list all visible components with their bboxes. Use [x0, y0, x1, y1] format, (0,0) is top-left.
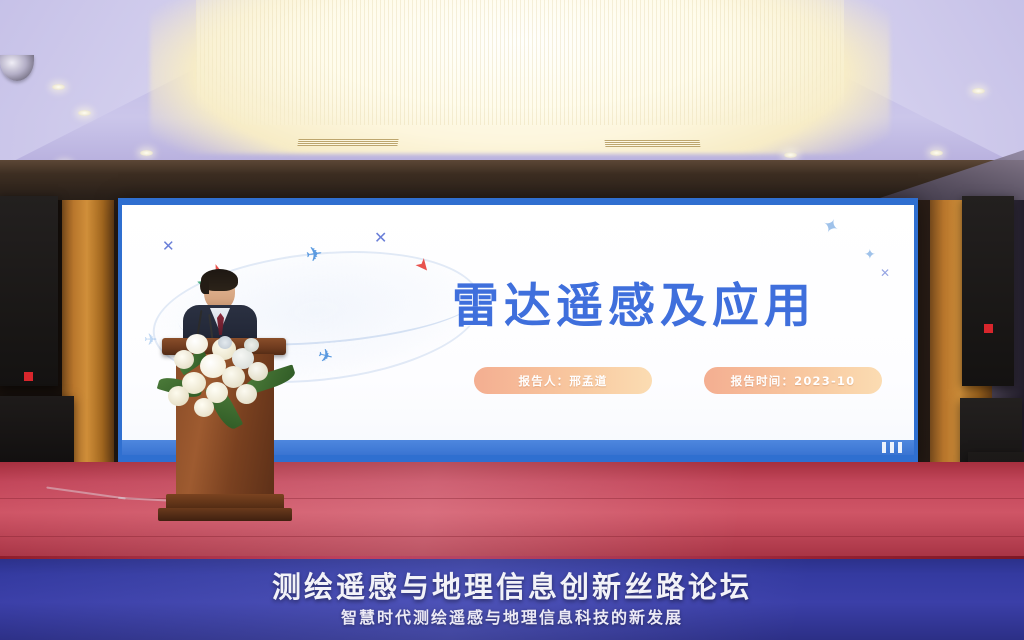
flower [236, 384, 257, 404]
downlight [930, 150, 943, 156]
airplane-blue-icon: ✈ [305, 244, 324, 266]
pa-speaker-right-top [962, 196, 1014, 386]
flower [174, 350, 194, 369]
presenter-badge: 报告人：邢孟道 [474, 367, 652, 394]
ceiling [0, 0, 1024, 168]
flower [244, 338, 259, 352]
date-badge: 报告时间：2023-10 [704, 367, 882, 394]
floral-arrangement [160, 332, 295, 424]
banner-subtitle: 智慧时代测绘遥感与地理信息科技的新发展 [0, 604, 1024, 628]
ceiling-vent-right [605, 140, 701, 147]
ceiling-vent-left [297, 139, 398, 146]
downlight [784, 152, 797, 158]
flower [248, 362, 268, 381]
drone-icon: ✕ [162, 239, 175, 254]
downlight [140, 150, 153, 156]
podium-plinth [158, 508, 292, 521]
aircraft-faint-icon: ✈ [144, 333, 157, 349]
slide-title: 雷达遥感及应用 [452, 267, 902, 336]
tick [882, 442, 886, 453]
pa-speaker-left-top [0, 196, 58, 386]
carpet-seam [0, 536, 1024, 537]
crystal-chandelier [196, 0, 844, 125]
satellite-icon: ✦ [819, 214, 843, 239]
slide-badge-row: 报告人：邢孟道 报告时间：2023-10 [474, 367, 882, 394]
slide-tick-marks [882, 442, 902, 453]
downlight [52, 84, 65, 90]
speaker-hair [201, 269, 238, 291]
downlight [972, 88, 985, 94]
jbl-logo-icon [24, 372, 33, 381]
conference-hall-scene: 用 ✕ ➤ ➤ ✈ ✕ ➤ ⌁ ✈ ✈ ✦ ✦ ✕ 雷达遥感及应用 报告人：邢孟… [0, 0, 1024, 640]
drone-blue-icon: ✕ [374, 231, 387, 247]
flower [218, 336, 232, 349]
banner-main-title: 测绘遥感与地理信息创新丝路论坛 [0, 564, 1024, 606]
jbl-logo-icon [984, 324, 993, 333]
flower [168, 386, 189, 406]
tick [898, 442, 902, 453]
downlight [78, 110, 91, 116]
tick [890, 442, 894, 453]
satellite-small-icon: ✦ [864, 247, 876, 261]
chandelier-crystal-strands [196, 0, 844, 125]
flower [194, 398, 214, 417]
event-banner: 测绘遥感与地理信息创新丝路论坛 智慧时代测绘遥感与地理信息科技的新发展 [0, 556, 1024, 640]
